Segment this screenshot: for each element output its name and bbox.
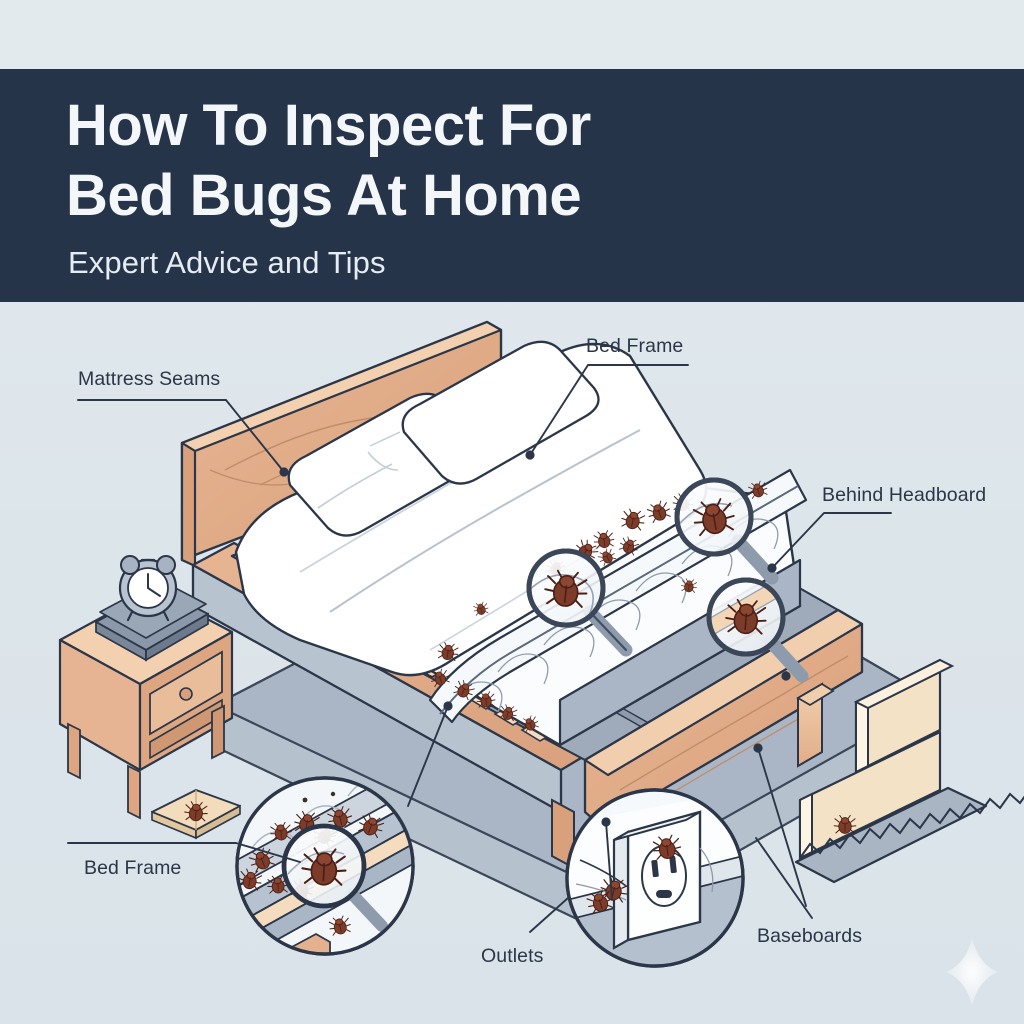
callout-label-bed-frame-bottom: Bed Frame [84,857,181,880]
page-subtitle: Expert Advice and Tips [68,245,386,281]
page-title-line-2: Bed Bugs At Home [66,167,581,225]
callout-label-outlets: Outlets [481,945,543,968]
callout-label-mattress-seams: Mattress Seams [78,368,220,391]
callout-label-bed-frame-top: Bed Frame [586,335,683,358]
detail-circle-outlet [567,790,743,966]
page-title-line-1: How To Inspect For [66,97,591,155]
infographic-poster: How To Inspect For Bed Bugs At Home Expe… [0,0,1024,1024]
callout-label-behind-headboard: Behind Headboard [822,484,986,507]
header-band: How To Inspect For Bed Bugs At Home Expe… [0,69,1024,302]
callout-label-baseboards: Baseboards [757,925,862,948]
